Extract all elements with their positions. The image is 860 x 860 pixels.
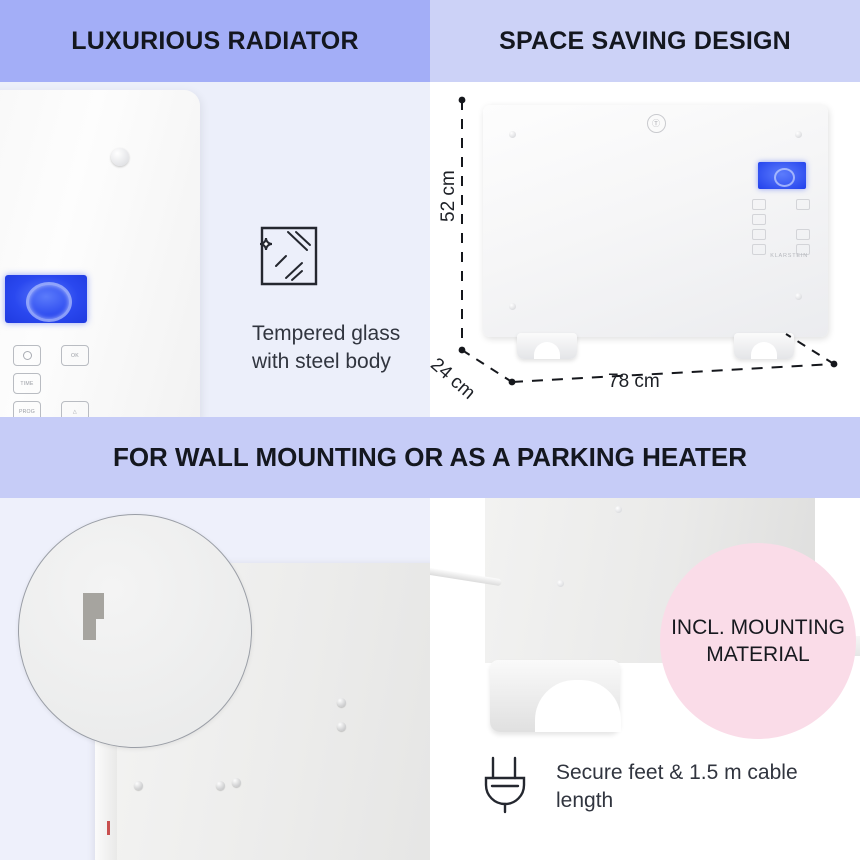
button-pad: OK TIME PROG △ TEMP ▽ bbox=[13, 345, 105, 417]
dimension-width-label: 78 cm bbox=[608, 371, 660, 393]
tempered-glass-label: Tempered glass with steel body bbox=[252, 320, 417, 375]
screw-icon bbox=[337, 722, 346, 731]
quadrant-control-panel: OK TIME PROG △ TEMP ▽ KLARSTEIN bbox=[0, 82, 430, 417]
header-luxurious-radiator: LUXURIOUS RADIATOR bbox=[0, 0, 430, 82]
dimension-guides bbox=[430, 82, 860, 417]
screw-icon bbox=[557, 580, 564, 587]
arrow-up-button[interactable]: △ bbox=[61, 401, 89, 417]
ok-button[interactable]: OK bbox=[61, 345, 89, 366]
lcd-display bbox=[5, 275, 87, 323]
prog-button[interactable]: PROG bbox=[13, 401, 41, 417]
product-infographic: LUXURIOUS RADIATOR SPACE SAVING DESIGN O… bbox=[0, 0, 860, 860]
power-icon bbox=[23, 351, 32, 360]
button-spacer bbox=[61, 373, 87, 392]
header-right-title: SPACE SAVING DESIGN bbox=[499, 27, 791, 56]
button-row: OK bbox=[13, 345, 105, 366]
badge-mounting-material: INCL. MOUNTING MATERIAL bbox=[660, 543, 856, 739]
screw-icon bbox=[615, 506, 622, 513]
badge-text: INCL. MOUNTING MATERIAL bbox=[660, 614, 856, 669]
screw-icon bbox=[232, 778, 241, 787]
dimension-height-label: 52 cm bbox=[438, 170, 460, 222]
header-left-title: LUXURIOUS RADIATOR bbox=[71, 27, 358, 56]
button-row: PROG △ bbox=[13, 401, 105, 417]
screw-icon bbox=[337, 698, 346, 707]
feature-cable-length: Secure feet & 1.5 m cable length bbox=[478, 754, 860, 819]
wall-bracket-icon bbox=[83, 593, 96, 640]
heater-panel-photo: OK TIME PROG △ TEMP ▽ KLARSTEIN bbox=[0, 90, 200, 417]
banner-title: FOR WALL MOUNTING OR AS A PARKING HEATER bbox=[113, 442, 747, 473]
cable-length-label: Secure feet & 1.5 m cable length bbox=[556, 759, 860, 815]
quadrant-wall-mount bbox=[0, 498, 430, 860]
banner-wall-mounting: FOR WALL MOUNTING OR AS A PARKING HEATER bbox=[0, 417, 860, 498]
quadrant-feet-and-cable: INCL. MOUNTING MATERIAL Secure feet & 1.… bbox=[430, 498, 860, 860]
screw-icon bbox=[216, 781, 225, 790]
plug-icon bbox=[478, 754, 532, 819]
feature-tempered-glass: Tempered glass with steel body bbox=[252, 220, 417, 375]
header-space-saving-design: SPACE SAVING DESIGN bbox=[430, 0, 860, 82]
power-button[interactable] bbox=[13, 345, 41, 366]
quadrant-dimensions: Ⓣ bbox=[430, 82, 860, 417]
button-row: TIME bbox=[13, 373, 105, 394]
screw-icon bbox=[134, 781, 143, 790]
tempered-glass-icon bbox=[252, 220, 326, 294]
rear-marking bbox=[107, 821, 110, 835]
power-knob bbox=[111, 148, 129, 166]
magnifier-wall-bracket bbox=[18, 514, 252, 748]
time-button[interactable]: TIME bbox=[13, 373, 41, 394]
heater-foot bbox=[490, 660, 620, 732]
